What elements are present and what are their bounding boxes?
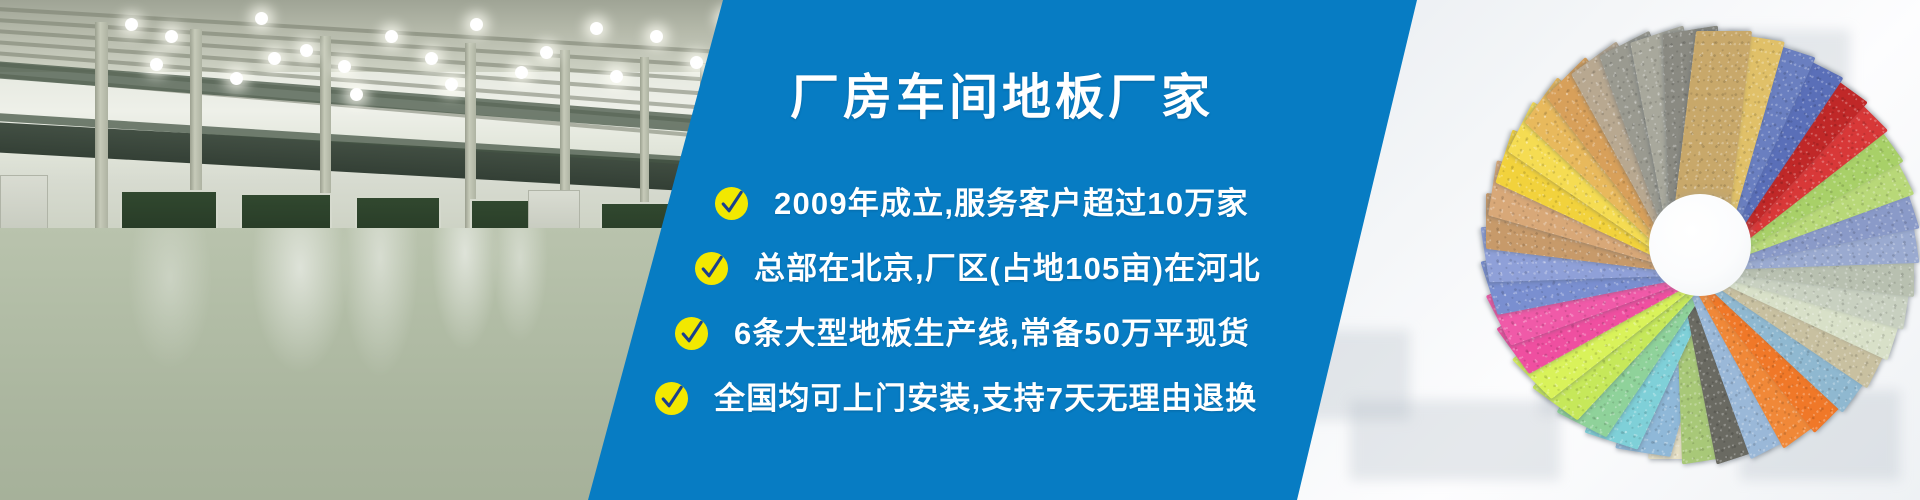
ceiling-light bbox=[515, 66, 528, 79]
check-circle-icon bbox=[674, 316, 709, 351]
ceiling-light bbox=[445, 78, 458, 91]
check-circle-icon bbox=[714, 186, 749, 221]
ceiling-light bbox=[385, 30, 398, 43]
feature-item-label: 总部在北京,厂区(占地105亩)在河北 bbox=[754, 253, 1261, 284]
flooring-color-fan bbox=[1480, 25, 1920, 465]
ceiling-light bbox=[125, 18, 138, 31]
ceiling-light bbox=[300, 44, 313, 57]
fan-center-hub bbox=[1649, 194, 1751, 296]
feature-item: 2009年成立,服务客户超过10万家 bbox=[714, 186, 1249, 221]
page-title: 厂房车间地板厂家 bbox=[790, 74, 1214, 123]
feature-item: 6条大型地板生产线,常备50万平现货 bbox=[674, 316, 1250, 351]
feature-item: 总部在北京,厂区(占地105亩)在河北 bbox=[694, 251, 1261, 286]
ceiling-light bbox=[690, 56, 703, 69]
feature-item-label: 6条大型地板生产线,常备50万平现货 bbox=[734, 318, 1250, 349]
ceiling-light bbox=[610, 70, 623, 83]
feature-item-label: 2009年成立,服务客户超过10万家 bbox=[774, 188, 1249, 219]
feature-item: 全国均可上门安装,支持7天无理由退换 bbox=[654, 381, 1257, 416]
check-circle-icon bbox=[654, 381, 689, 416]
ceiling-light bbox=[338, 60, 351, 73]
promo-banner: 厂房车间地板厂家 2009年成立,服务客户超过10万家总部在北京,厂区(占地10… bbox=[0, 0, 1920, 500]
ceiling-light bbox=[165, 30, 178, 43]
ceiling-light bbox=[150, 58, 163, 71]
ceiling-light bbox=[268, 52, 281, 65]
ceiling-light bbox=[590, 22, 603, 35]
ceiling-light bbox=[470, 18, 483, 31]
ceiling-light bbox=[255, 12, 268, 25]
ceiling-light bbox=[350, 88, 363, 101]
ceiling-light bbox=[650, 30, 663, 43]
ceiling-light bbox=[540, 46, 553, 59]
ceiling-light bbox=[230, 72, 243, 85]
check-circle-icon bbox=[694, 251, 729, 286]
ceiling-light bbox=[425, 52, 438, 65]
feature-item-label: 全国均可上门安装,支持7天无理由退换 bbox=[714, 383, 1257, 414]
